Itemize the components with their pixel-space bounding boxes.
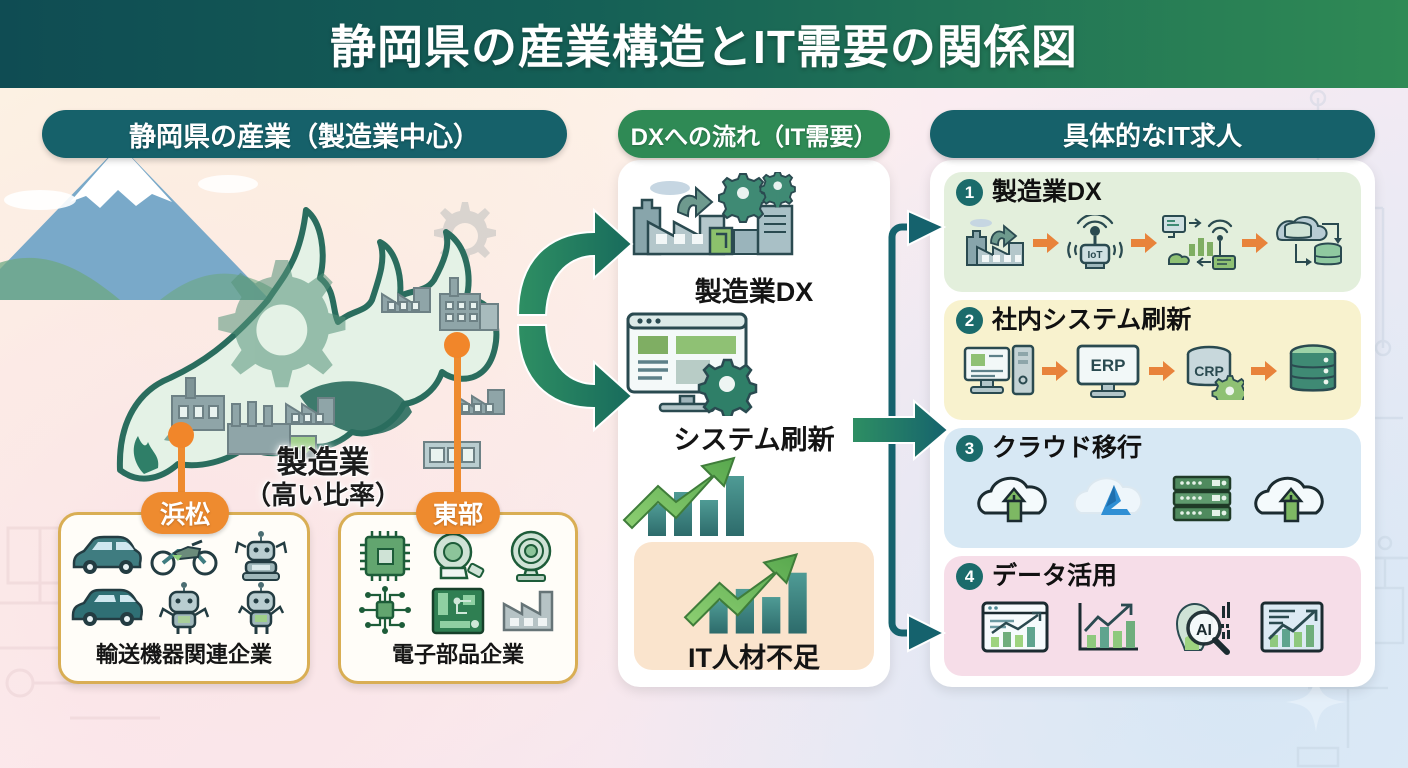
robot-icon (156, 581, 212, 635)
map-pin-tobu (444, 332, 470, 358)
job-number-badge: 3 (956, 435, 983, 462)
arrow-right-icon (908, 211, 944, 245)
arrow-right-icon (1042, 361, 1068, 381)
region-card-hamamatsu: 輸送機器関連企業 (58, 512, 310, 684)
arrow-curved-up-icon (518, 210, 632, 315)
dx-card-it-talent-shortage: IT人材不足 (634, 542, 874, 670)
crp-label: CRP (1194, 363, 1224, 379)
pin-line-tobu (454, 340, 461, 502)
flow-arrows-right (852, 205, 948, 655)
pcb-icon (427, 583, 489, 637)
region-icon-grid (69, 529, 299, 633)
job-card-header: 1 製造業DX (944, 172, 1361, 206)
arrow-right-icon (1033, 233, 1059, 253)
cloud-upload-icon (1252, 471, 1330, 527)
dx-item-system-renewal: システム刷新 (618, 308, 890, 457)
region-caption-tobu: 電子部品企業 (341, 637, 575, 669)
dx-item-label: 製造業DX (618, 270, 890, 309)
map-pin-hamamatsu (168, 422, 194, 448)
server-rack-icon (1170, 471, 1234, 527)
it-jobs-panel: 1 製造業DX IoT (930, 160, 1375, 687)
arrow-right-icon (1149, 361, 1175, 381)
cloud-upload-icon (975, 471, 1053, 527)
region-caption-hamamatsu: 輸送機器関連企業 (61, 637, 307, 669)
map-overlay-line2: （高い比率） (228, 481, 418, 510)
job-card-header: 4 データ活用 (944, 556, 1361, 590)
database-stack-icon (1284, 342, 1342, 400)
arrow-right-icon (1242, 233, 1268, 253)
arrow-right-icon (908, 615, 944, 651)
arrow-curved-down-icon (518, 325, 632, 430)
factory-icon (961, 215, 1029, 271)
page-title: 静岡県の産業構造とIT需要の関係図 (330, 11, 1078, 77)
arrow-right-icon (1251, 361, 1277, 381)
circuit-icon (424, 442, 480, 468)
gear-icon (218, 260, 345, 387)
job-card-title: 製造業DX (992, 180, 1102, 205)
dx-item-label: システム刷新 (618, 418, 890, 457)
job-card-data-utilization[interactable]: 4 データ活用 (944, 556, 1361, 676)
erp-monitor-icon: ERP (1075, 342, 1141, 400)
bar-chart-trend-icon (1074, 599, 1142, 655)
erp-label: ERP (1091, 356, 1126, 375)
circuit-icon (356, 583, 414, 637)
azure-cloud-icon (1071, 471, 1151, 527)
job-card-cloud-migration[interactable]: 3 クラウド移行 (944, 428, 1361, 548)
map-overlay-line1: 製造業 (228, 446, 418, 481)
infographic-canvas: 静岡県の産業構造とIT需要の関係図 (0, 0, 1408, 768)
job-icon-row (944, 462, 1361, 536)
job-icon-row: IoT (944, 206, 1361, 280)
column-header-dx-flow: DXへの流れ（IT需要） (618, 110, 890, 158)
robot-arm-icon (232, 529, 290, 581)
job-card-header: 3 クラウド移行 (944, 428, 1361, 462)
monitor-gear-icon (618, 308, 768, 416)
sensor-icon (427, 530, 489, 582)
ai-magnifier-icon: AI (1165, 598, 1235, 656)
trend-report-icon (1259, 599, 1325, 655)
iot-sensor-icon: IoT (1064, 215, 1126, 271)
dx-flow-panel: 製造業DX システム刷新 (618, 160, 890, 687)
job-card-title: 社内システム刷新 (992, 308, 1191, 333)
job-card-header: 2 社内システム刷新 (944, 300, 1361, 334)
column-header-industry: 静岡県の産業（製造業中心） (42, 110, 567, 158)
region-badge-tobu: 東部 (416, 492, 500, 534)
factory-icon (500, 586, 562, 634)
job-card-title: クラウド移行 (992, 436, 1142, 461)
region-card-tobu: 電子部品企業 (338, 512, 578, 684)
flow-arrows-left (490, 190, 640, 450)
factory-gears-icon (618, 172, 798, 268)
page-header: 静岡県の産業構造とIT需要の関係図 (0, 0, 1408, 88)
motorcycle-icon (148, 533, 220, 577)
arrow-right-icon (1131, 233, 1157, 253)
job-card-manufacturing-dx[interactable]: 1 製造業DX IoT (944, 172, 1361, 292)
robot-waving-icon (233, 581, 289, 635)
dx-card-label: IT人材不足 (634, 636, 874, 675)
svg-text:IoT: IoT (1087, 250, 1102, 261)
desktop-pc-icon (963, 342, 1035, 400)
growth-chart-icon (618, 456, 766, 538)
job-number-badge: 4 (956, 563, 983, 590)
antenna-icon (504, 529, 558, 583)
job-number-badge: 2 (956, 307, 983, 334)
svg-text:AI: AI (1196, 622, 1212, 639)
crp-database-icon: CRP (1182, 342, 1244, 400)
sedan-icon (70, 587, 144, 629)
dx-item-manufacturing: 製造業DX (618, 172, 890, 309)
dx-item-growth (618, 456, 890, 540)
growth-chart-icon (679, 552, 829, 636)
map-overlay-label: 製造業 （高い比率） (228, 446, 418, 510)
cloud-database-icon (1272, 214, 1344, 272)
car-icon (70, 533, 144, 577)
microchip-icon (356, 529, 414, 583)
job-number-badge: 1 (956, 179, 983, 206)
arrow-right-icon (852, 401, 948, 459)
network-analytics-icon (1161, 214, 1237, 272)
region-badge-hamamatsu: 浜松 (141, 492, 229, 534)
job-icon-row: AI (944, 590, 1361, 664)
job-card-internal-system[interactable]: 2 社内システム刷新 ER (944, 300, 1361, 420)
column-header-it-jobs: 具体的なIT求人 (930, 110, 1375, 158)
region-icon-grid (349, 529, 567, 633)
dashboard-chart-icon (980, 599, 1050, 655)
job-card-title: データ活用 (992, 564, 1117, 589)
job-icon-row: ERP CRP (944, 334, 1361, 408)
